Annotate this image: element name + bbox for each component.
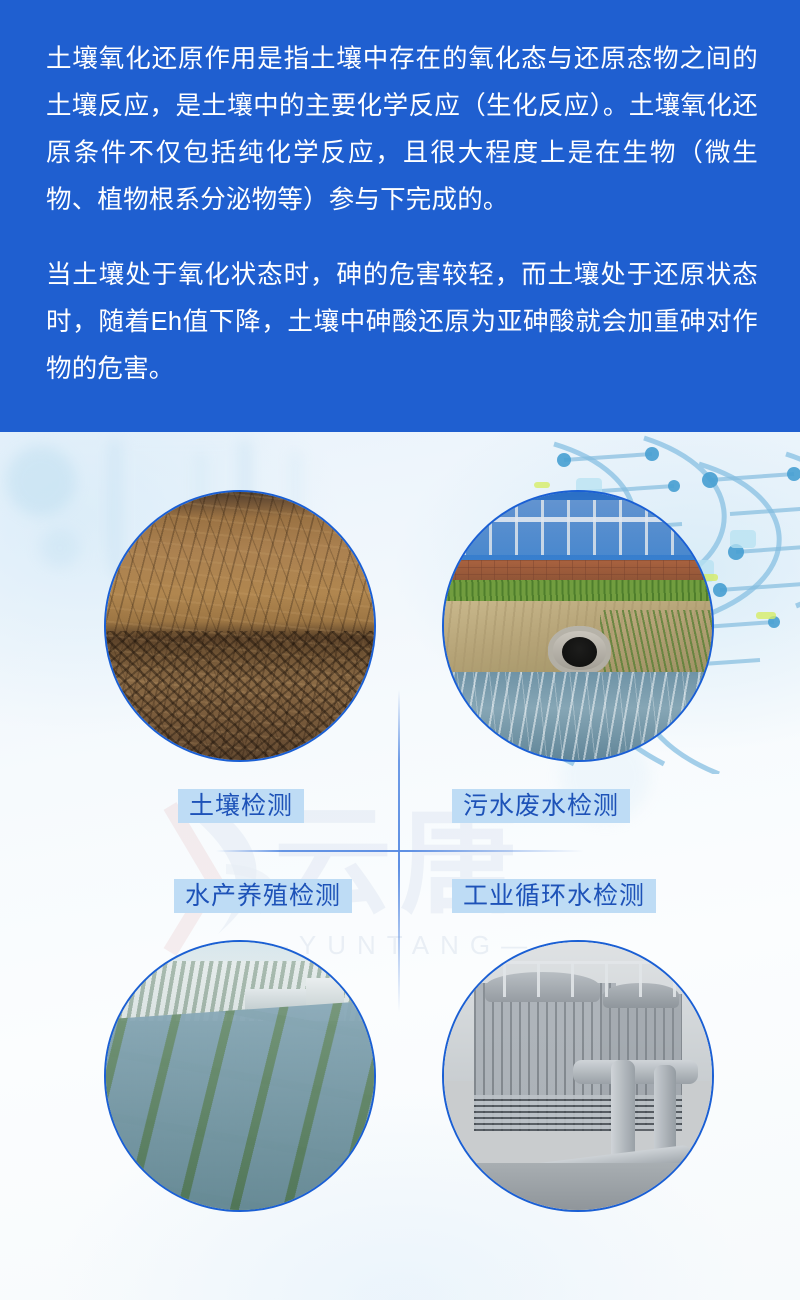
promo-page: 土壤氧化还原作用是指土壤中存在的氧化态与还原态物之间的土壤反应，是土壤中的主要化… [0, 0, 800, 1300]
power-pylon-layer [463, 500, 698, 555]
category-showcase-panel: 云唐 —YUNTANG— [0, 432, 800, 1300]
intro-paragraph-1: 土壤氧化还原作用是指土壤中存在的氧化态与还原态物之间的土壤反应，是土壤中的主要化… [46, 36, 758, 224]
intro-text-panel: 土壤氧化还原作用是指土壤中存在的氧化态与还原态物之间的土壤反应，是土壤中的主要化… [0, 0, 800, 432]
scene-shading-layer [104, 940, 376, 1212]
photo-circle-wastewater[interactable] [442, 490, 714, 762]
roof-railing [469, 961, 698, 997]
bubble-decoration-icon [40, 528, 80, 568]
intro-text-block: 土壤氧化还原作用是指土壤中存在的氧化态与还原态物之间的土壤反应，是土壤中的主要化… [46, 36, 758, 393]
category-label-industrial[interactable]: 工业循环水检测 [452, 879, 656, 913]
photo-circle-aquaculture[interactable] [104, 940, 376, 1212]
divider-horizontal [216, 850, 584, 852]
bubble-decoration-icon [6, 446, 76, 516]
category-label-wastewater[interactable]: 污水废水检测 [452, 789, 630, 823]
photo-circle-soil[interactable] [104, 490, 376, 762]
pipe-horizontal-upper [573, 1060, 699, 1085]
cooling-tower-image [442, 940, 714, 1212]
wastewater-discharge-image [442, 490, 714, 762]
bank-weeds-layer [600, 610, 714, 681]
category-label-soil[interactable]: 土壤检测 [178, 789, 304, 823]
intro-paragraph-2: 当土壤处于氧化状态时，砷的危害较轻，而土壤处于还原状态时，随着Eh值下降，土壤中… [46, 252, 758, 393]
category-label-aquaculture[interactable]: 水产养殖检测 [174, 879, 352, 913]
pipe-opening [562, 637, 597, 667]
tower-base-platform [442, 1163, 714, 1212]
pylon-beam-layer [474, 517, 687, 522]
water-shimmer [442, 672, 714, 762]
aquaculture-ponds-image [104, 940, 376, 1212]
tower-intake-grill [474, 1095, 681, 1130]
photo-circle-industrial[interactable] [442, 940, 714, 1212]
soil-gravel-layer [104, 631, 376, 762]
soil-profile-image [104, 490, 376, 762]
